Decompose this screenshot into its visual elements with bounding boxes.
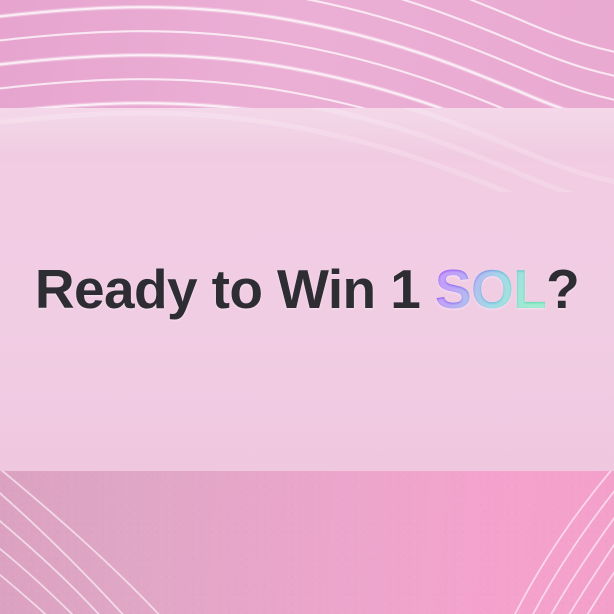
- headline-sol-highlight: SOL: [435, 258, 546, 320]
- headline-container: Ready to Win 1 SOL?: [0, 108, 614, 471]
- headline-lead-text: Ready to Win 1: [35, 258, 435, 320]
- promo-poster: Ready to Win 1 SOL?: [0, 0, 614, 614]
- headline-trailing-text: ?: [546, 258, 579, 320]
- bottom-decorative-band: [0, 470, 614, 614]
- page-title: Ready to Win 1 SOL?: [35, 262, 579, 317]
- wavy-lines-icon: [0, 0, 614, 112]
- corner-arcs-icon: [0, 470, 614, 614]
- top-decorative-band: [0, 0, 614, 112]
